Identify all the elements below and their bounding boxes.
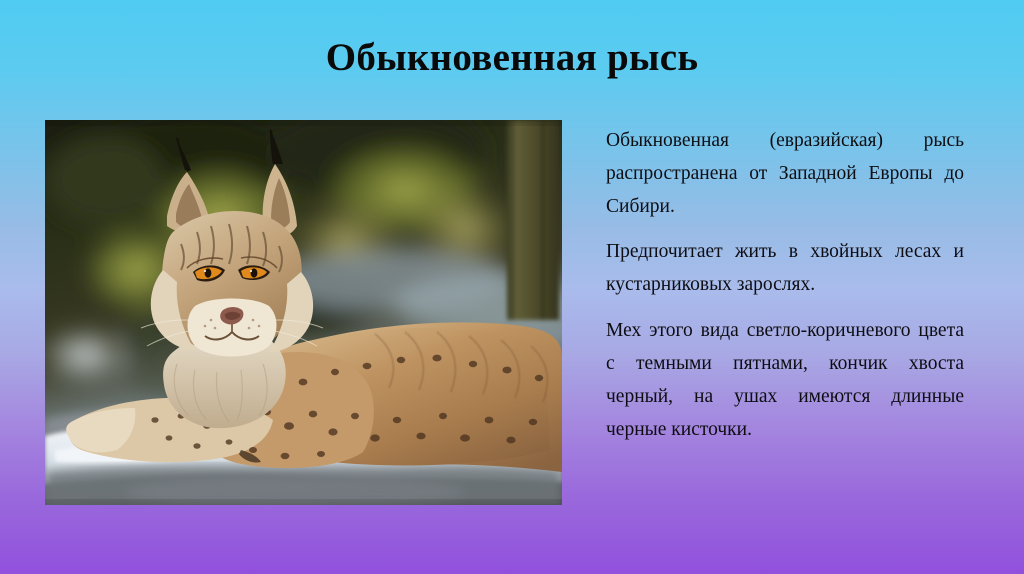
- lynx-photo-artwork: [45, 120, 562, 505]
- body-text-column: Обыкновенная (евразийская) рысь распрост…: [606, 124, 964, 446]
- body-paragraph-3: Мех этого вида светло-коричневого цвета …: [606, 314, 964, 446]
- body-paragraph-2: Предпочитает жить в хвойных лесах и куст…: [606, 235, 964, 301]
- body-paragraph-1: Обыкновенная (евразийская) рысь распрост…: [606, 124, 964, 223]
- presentation-slide: Обыкновенная рысь: [0, 0, 1024, 574]
- eurasian-lynx-photo: [45, 120, 562, 505]
- slide-title: Обыкновенная рысь: [0, 36, 1024, 81]
